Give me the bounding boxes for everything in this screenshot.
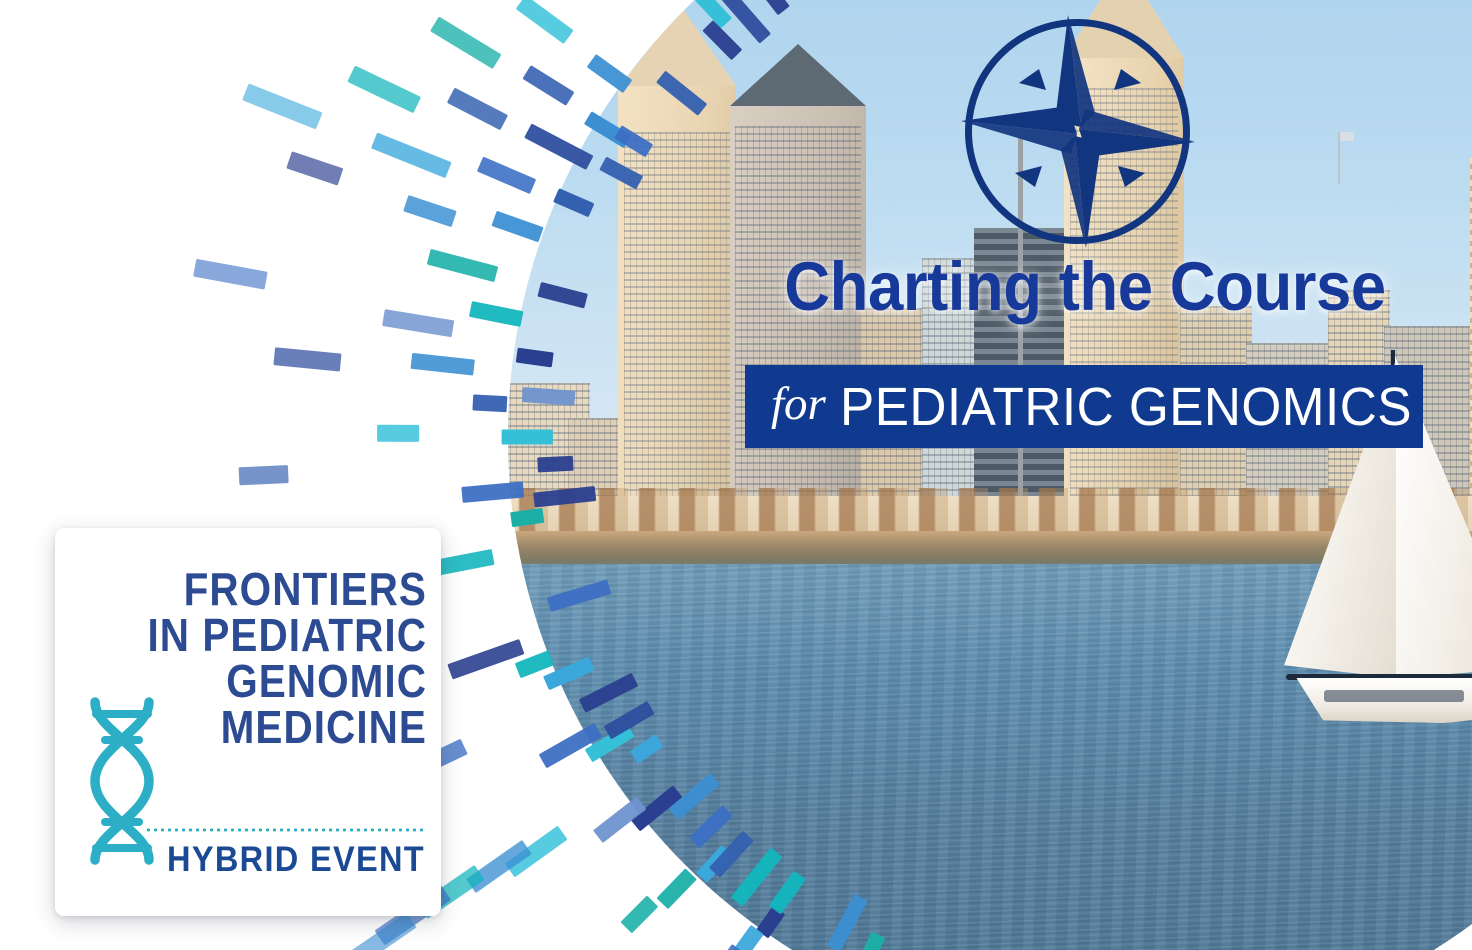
gel-band xyxy=(553,188,594,217)
gel-band xyxy=(614,125,653,157)
gel-band xyxy=(856,932,885,950)
gel-band xyxy=(477,157,536,195)
gel-band xyxy=(510,508,544,527)
gel-band xyxy=(516,0,574,44)
subtitle-text: PEDIATRIC GENOMICS xyxy=(840,380,1412,434)
event-name-line-4: MEDICINE xyxy=(137,704,427,750)
gel-band xyxy=(656,868,696,909)
gel-band xyxy=(516,348,554,368)
gel-band xyxy=(769,871,806,915)
gel-band xyxy=(427,249,499,282)
gel-band xyxy=(382,309,454,337)
promo-banner-canvas: Charting the Course for PEDIATRIC GENOMI… xyxy=(0,0,1472,950)
gel-band xyxy=(533,486,596,508)
gel-band xyxy=(491,211,543,243)
gel-band xyxy=(502,430,553,445)
gel-band xyxy=(827,894,868,950)
gel-band xyxy=(599,157,643,190)
event-logo-card: FRONTIERS IN PEDIATRIC GENOMIC MEDICINE xyxy=(55,528,441,916)
gel-band xyxy=(286,151,343,185)
gel-band xyxy=(371,132,452,178)
event-name-line-2: IN PEDIATRIC xyxy=(137,612,427,658)
event-name-line-3: GENOMIC xyxy=(137,658,427,704)
gel-band xyxy=(377,425,419,442)
gel-band xyxy=(537,456,573,473)
subtitle-for-word: for xyxy=(771,381,826,428)
gel-band xyxy=(411,353,475,376)
gel-band xyxy=(430,17,501,70)
event-logo-content: FRONTIERS IN PEDIATRIC GENOMIC MEDICINE xyxy=(55,528,441,916)
gel-band xyxy=(524,123,593,170)
compass-rose-icon xyxy=(955,9,1200,254)
gel-band xyxy=(587,54,633,93)
dna-helix-icon xyxy=(81,696,163,866)
gel-band xyxy=(447,639,524,680)
gel-band xyxy=(403,195,457,227)
gel-band xyxy=(522,65,574,106)
gel-band xyxy=(472,394,507,412)
gel-band xyxy=(620,895,658,933)
gel-band xyxy=(239,465,289,485)
gel-band xyxy=(656,71,707,116)
gel-band xyxy=(469,301,524,327)
gel-band xyxy=(522,387,576,406)
event-type-label: HYBRID EVENT xyxy=(155,840,425,880)
gel-band xyxy=(193,259,268,290)
gel-band xyxy=(461,481,524,502)
event-name-block: FRONTIERS IN PEDIATRIC GENOMIC MEDICINE xyxy=(137,566,427,750)
gel-band xyxy=(751,0,790,15)
gel-band xyxy=(547,579,612,611)
gel-band xyxy=(242,83,322,129)
gel-band xyxy=(537,282,588,309)
gel-band xyxy=(347,66,421,114)
event-name-line-1: FRONTIERS xyxy=(137,566,427,612)
subtitle-banner: for PEDIATRIC GENOMICS xyxy=(745,365,1423,448)
page-title: Charting the Course xyxy=(772,252,1398,321)
gel-band xyxy=(579,673,638,713)
gel-band xyxy=(630,734,664,764)
divider-dotted-line xyxy=(145,828,425,832)
gel-band xyxy=(273,347,341,371)
gel-band xyxy=(689,805,733,848)
gel-band xyxy=(447,88,508,131)
